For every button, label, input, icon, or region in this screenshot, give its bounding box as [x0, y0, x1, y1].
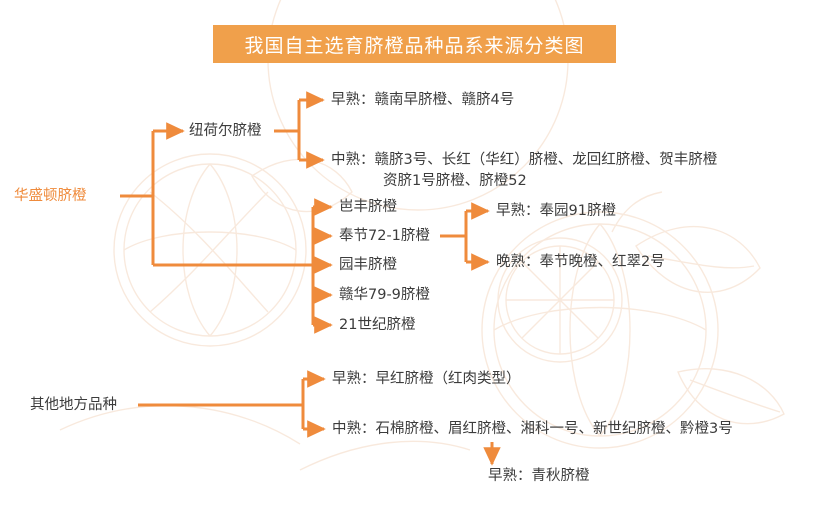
- leaf-node-qingqiu: 早熟：青秋脐橙: [488, 466, 590, 487]
- newhall-child-mid-line2: 资脐1号脐橙、脐橙52: [331, 171, 717, 192]
- diagram-canvas: 我国自主选育脐橙品种品系来源分类图 华盛顿脐橙 纽荷尔脐橙 早熟：赣南早脐橙、赣…: [0, 0, 829, 513]
- root-node-other-local: 其他地方品种: [30, 395, 117, 416]
- other-local-child-early: 早熟：早红脐橙（红肉类型）: [332, 369, 521, 390]
- washington-child-4: 赣华79-9脐橙: [339, 285, 430, 306]
- newhall-child-early: 早熟：赣南早脐橙、赣脐4号: [331, 90, 514, 111]
- fengjie-child-late: 晚熟：奉节晚橙、红翠2号: [496, 252, 665, 273]
- other-local-child-mid: 中熟：石棉脐橙、眉红脐橙、湘科一号、新世纪脐橙、黔橙3号: [332, 419, 733, 440]
- washington-child-1: 岜丰脐橙: [339, 197, 397, 218]
- fengjie-child-early: 早熟：奉园91脐橙: [496, 201, 616, 222]
- page-title: 我国自主选育脐橙品种品系来源分类图: [244, 31, 584, 58]
- diagram-title-banner: 我国自主选育脐橙品种品系来源分类图: [213, 25, 616, 63]
- branch-node-newhall: 纽荷尔脐橙: [189, 121, 262, 142]
- root-node-washington: 华盛顿脐橙: [14, 186, 87, 207]
- washington-child-3: 园丰脐橙: [339, 255, 397, 276]
- washington-child-5: 21世纪脐橙: [339, 315, 415, 336]
- washington-child-2: 奉节72-1脐橙: [339, 226, 430, 247]
- newhall-child-mid: 中熟：赣脐3号、长红（华红）脐橙、龙回红脐橙、贺丰脐橙 资脐1号脐橙、脐橙52: [331, 150, 717, 192]
- newhall-child-mid-line1: 中熟：赣脐3号、长红（华红）脐橙、龙回红脐橙、贺丰脐橙: [331, 152, 717, 168]
